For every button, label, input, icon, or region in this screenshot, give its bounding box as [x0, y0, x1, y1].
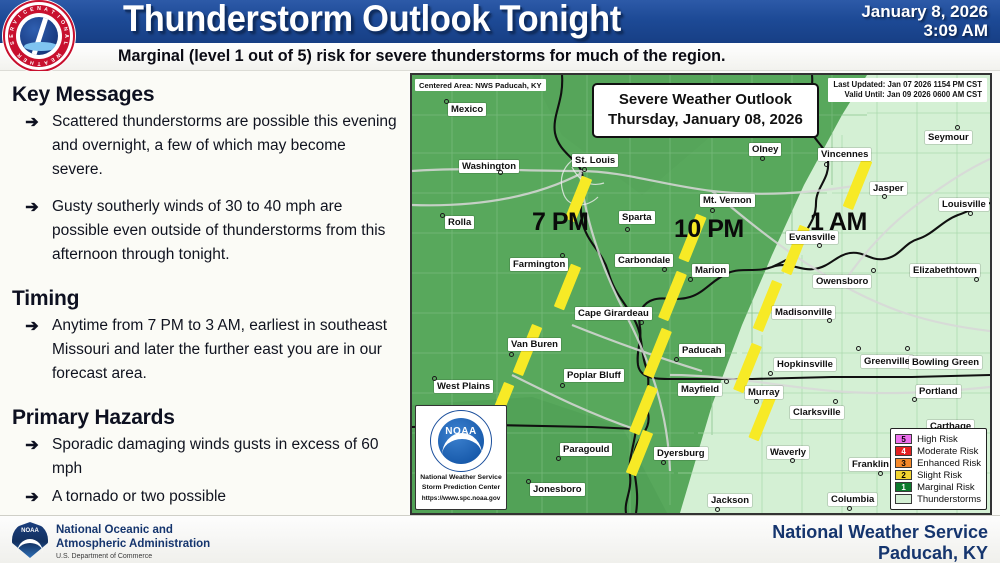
city-label: Mayfield — [678, 383, 722, 396]
seal-ring-letter: E — [22, 56, 28, 63]
spc-url-link[interactable]: https://www.spc.noaa.gov — [416, 495, 506, 502]
city-label: Hopkinsville — [774, 358, 836, 371]
city-label: Rolla — [445, 216, 474, 229]
risk-legend: 5High Risk4Moderate Risk3Enhanced Risk2S… — [890, 428, 987, 510]
city-dot-icon — [955, 125, 960, 130]
city-label: Washington — [459, 160, 519, 173]
office-name: National Weather Service Paducah, KY — [772, 522, 988, 563]
city-dot-icon — [754, 399, 759, 404]
seal-ring-letter: H — [29, 59, 34, 66]
city-label: Jonesboro — [530, 483, 585, 496]
noaa-footer-wordmark: NOAA — [12, 528, 48, 534]
section-heading: Timing — [12, 287, 400, 311]
city-dot-icon — [498, 170, 503, 175]
city-dot-icon — [827, 318, 832, 323]
legend-label: Thunderstorms — [917, 494, 981, 505]
bullet-item: ➔Anytime from 7 PM to 3 AM, earliest in … — [12, 314, 400, 386]
city-label: Mexico — [448, 103, 486, 116]
spc-line-1: National Weather Service — [416, 473, 506, 482]
city-label: Murray — [745, 386, 783, 399]
seal-ring-letter: R — [10, 26, 17, 31]
legend-color-swatch: 5 — [895, 434, 912, 444]
timing-label: 10 PM — [674, 215, 744, 244]
city-label: West Plains — [434, 380, 493, 393]
city-dot-icon — [715, 507, 720, 512]
agency-subline: U.S. Department of Commerce — [56, 552, 152, 561]
bullet-text: Anytime from 7 PM to 3 AM, earliest in s… — [52, 314, 400, 386]
office-line-1: National Weather Service — [772, 522, 988, 543]
city-label: Seymour — [925, 131, 972, 144]
legend-row: 5High Risk — [895, 433, 981, 445]
legend-color-swatch: 3 — [895, 458, 912, 468]
seal-ring-letter: L — [62, 41, 69, 46]
legend-color-swatch: 4 — [895, 446, 912, 456]
city-label: Poplar Bluff — [564, 369, 624, 382]
city-label: Farmington — [510, 258, 568, 271]
header-date: January 8, 2026 — [861, 2, 988, 21]
office-line-2: Paducah, KY — [772, 543, 988, 563]
city-label: Madisonville — [772, 306, 835, 319]
city-label: Louisville — [939, 198, 989, 211]
seal-ring-letter: W — [54, 51, 62, 59]
legend-label: Enhanced Risk — [917, 458, 981, 469]
header-time: 3:09 AM — [861, 21, 988, 40]
city-dot-icon — [856, 346, 861, 351]
city-label: Columbia — [828, 493, 877, 506]
arrow-right-icon: ➔ — [12, 314, 52, 339]
map-title-line1: Severe Weather Outlook — [608, 90, 803, 110]
seal-ring-letter: I — [55, 14, 60, 19]
page-title: Thunderstorm Outlook Tonight — [123, 0, 621, 40]
city-dot-icon — [661, 460, 666, 465]
city-dot-icon — [724, 379, 729, 384]
arrow-right-icon: ➔ — [12, 485, 52, 510]
city-dot-icon — [871, 268, 876, 273]
city-label: Waverly — [767, 446, 809, 459]
legend-row: Thunderstorms — [895, 493, 981, 505]
city-dot-icon — [760, 156, 765, 161]
city-dot-icon — [526, 479, 531, 484]
agency-line-2: Atmospheric Administration — [56, 537, 210, 551]
city-dot-icon — [905, 346, 910, 351]
city-dot-icon — [625, 227, 630, 232]
bullet-text: Sporadic damaging winds gusts in excess … — [52, 433, 400, 481]
city-label: Van Buren — [508, 338, 561, 351]
city-label: Elizabethtown — [910, 264, 980, 277]
section-heading: Key Messages — [12, 83, 400, 107]
subtitle-bar: Marginal (level 1 out of 5) risk for sev… — [0, 43, 1000, 71]
city-label: Sparta — [619, 211, 655, 224]
noaa-seal-icon: NOAA — [430, 410, 492, 472]
seal-ring-letter: N — [62, 26, 69, 31]
map-title-line2: Thursday, January 08, 2026 — [608, 110, 803, 130]
seal-ring-letter: T — [50, 9, 56, 16]
city-dot-icon — [688, 277, 693, 282]
city-dot-icon — [833, 399, 838, 404]
subtitle-text: Marginal (level 1 out of 5) risk for sev… — [118, 46, 726, 66]
seal-ring-letter: A — [43, 7, 48, 14]
city-label: Paducah — [679, 344, 725, 357]
city-dot-icon — [560, 383, 565, 388]
arrow-right-icon: ➔ — [12, 433, 52, 458]
city-dot-icon — [509, 352, 514, 357]
city-dot-icon — [817, 243, 822, 248]
city-label: Vincennes — [818, 148, 871, 161]
arrow-right-icon: ➔ — [12, 110, 52, 135]
city-dot-icon — [882, 194, 887, 199]
outlook-map[interactable]: Centered Area: NWS Paducah, KY Last Upda… — [410, 73, 992, 515]
bullet-item: ➔Gusty southerly winds of 30 to 40 mph a… — [12, 195, 400, 267]
legend-row: 3Enhanced Risk — [895, 457, 981, 469]
agency-line-1: National Oceanic and — [56, 523, 210, 537]
legend-label: High Risk — [917, 434, 958, 445]
city-label: Carbondale — [615, 254, 673, 267]
spc-logo-box: NOAA National Weather Service Storm Pred… — [415, 405, 507, 510]
city-dot-icon — [444, 99, 449, 104]
header-datetime: January 8, 2026 3:09 AM — [861, 2, 988, 40]
city-dot-icon — [560, 253, 565, 258]
city-dot-icon — [440, 213, 445, 218]
city-dot-icon — [582, 167, 587, 172]
city-dot-icon — [968, 211, 973, 216]
valid-until-text: Valid Until: Jan 09 2026 0600 AM CST — [833, 90, 982, 100]
map-metadata-box: Last Updated: Jan 07 2026 1154 PM CST Va… — [828, 78, 987, 102]
seal-ring-letter: A — [43, 59, 48, 66]
legend-color-swatch: 2 — [895, 470, 912, 480]
centered-area-label: Centered Area: NWS Paducah, KY — [415, 79, 546, 91]
spc-line-2: Storm Prediction Center — [416, 483, 506, 492]
legend-label: Slight Risk — [917, 470, 962, 481]
bullet-item: ➔Sporadic damaging winds gusts in excess… — [12, 433, 400, 481]
city-dot-icon — [824, 162, 829, 167]
bullet-item: ➔Scattered thunderstorms are possible th… — [12, 110, 400, 182]
city-dot-icon — [710, 208, 715, 213]
weather-graphic-page: Thunderstorm Outlook Tonight January 8, … — [0, 0, 1000, 563]
city-dot-icon — [878, 471, 883, 476]
city-label: Cape Girardeau — [575, 307, 652, 320]
section-heading: Primary Hazards — [12, 406, 400, 430]
city-label: St. Louis — [572, 154, 618, 167]
city-dot-icon — [912, 397, 917, 402]
city-dot-icon — [847, 506, 852, 511]
seal-ring-letter: A — [63, 34, 69, 38]
key-messages-panel: Key Messages➔Scattered thunderstorms are… — [0, 71, 408, 515]
noaa-logo-icon: NOAA — [12, 522, 48, 558]
bullet-item: ➔A tornado or two possible — [12, 485, 400, 510]
city-dot-icon — [974, 277, 979, 282]
legend-color-swatch — [895, 494, 912, 504]
city-dot-icon — [790, 458, 795, 463]
legend-label: Moderate Risk — [917, 446, 978, 457]
city-label: Paragould — [560, 443, 612, 456]
legend-row: 2Slight Risk — [895, 469, 981, 481]
bullet-text: Gusty southerly winds of 30 to 40 mph ar… — [52, 195, 400, 267]
bullet-text: Scattered thunderstorms are possible thi… — [52, 110, 400, 182]
agency-name: National Oceanic and Atmospheric Adminis… — [56, 523, 210, 551]
legend-row: 4Moderate Risk — [895, 445, 981, 457]
city-label: Greenville — [861, 355, 913, 368]
city-dot-icon — [662, 267, 667, 272]
city-dot-icon — [556, 456, 561, 461]
seal-ring-letter: N — [37, 6, 41, 12]
last-updated-text: Last Updated: Jan 07 2026 1154 PM CST — [833, 80, 982, 90]
city-label: Franklin — [849, 458, 892, 471]
legend-label: Marginal Risk — [917, 482, 975, 493]
city-label: Owensboro — [813, 275, 871, 288]
nws-seal-icon: NATIONAL WEATHER SERVICE — [3, 0, 75, 72]
city-dot-icon — [432, 376, 437, 381]
timing-label: 7 PM — [532, 208, 588, 237]
city-label: Dyersburg — [654, 447, 708, 460]
seal-ring-letter: O — [59, 19, 66, 26]
bullet-text: A tornado or two possible — [52, 485, 226, 509]
city-dot-icon — [674, 357, 679, 362]
seal-ring-letter: S — [10, 41, 17, 46]
legend-color-swatch: 1 — [895, 482, 912, 492]
seal-ring-letter: E — [9, 34, 15, 37]
city-label: Mt. Vernon — [700, 194, 755, 207]
city-label: Marion — [692, 264, 729, 277]
city-label: Portland — [916, 385, 961, 398]
seal-ring-letter: T — [37, 60, 40, 66]
city-label: Clarksville — [790, 406, 844, 419]
header-bar: Thunderstorm Outlook Tonight January 8, … — [0, 0, 1000, 43]
seal-ring-letter: E — [30, 7, 35, 14]
city-label: Jackson — [708, 494, 752, 507]
map-title-box: Severe Weather Outlook Thursday, January… — [592, 83, 819, 138]
city-dot-icon — [768, 371, 773, 376]
timing-label: 1 AM — [810, 208, 867, 237]
city-label: Jasper — [870, 182, 907, 195]
legend-row: 1Marginal Risk — [895, 481, 981, 493]
seal-ring-letter: E — [49, 56, 55, 63]
footer-bar: NOAA National Oceanic and Atmospheric Ad… — [0, 515, 1000, 563]
city-label: Olney — [749, 143, 781, 156]
city-label: Bowling Green — [909, 356, 982, 369]
city-dot-icon — [639, 320, 644, 325]
arrow-right-icon: ➔ — [12, 195, 52, 220]
